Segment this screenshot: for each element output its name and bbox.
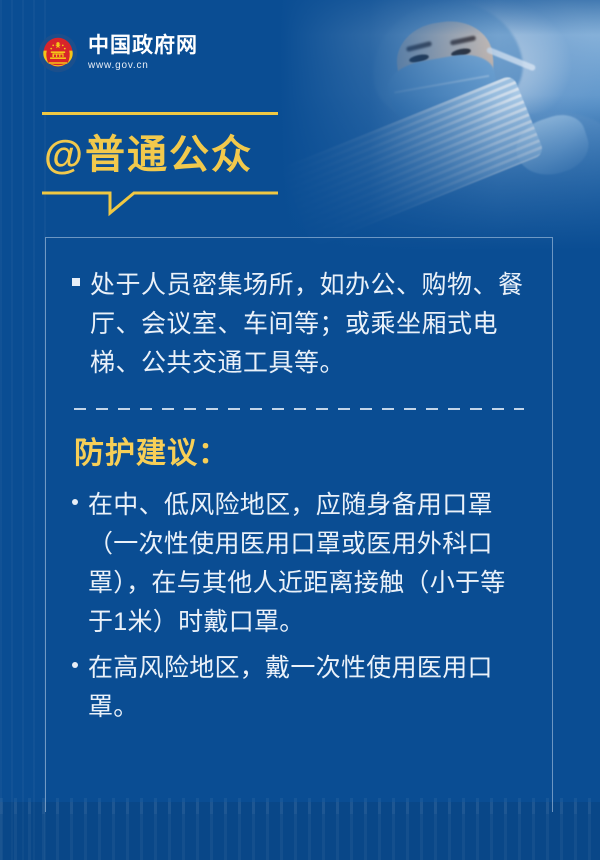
china-national-emblem-icon — [38, 33, 78, 73]
dashed-divider — [74, 408, 524, 410]
dot-bullet-icon — [72, 662, 78, 668]
page-title: @普通公众 — [44, 135, 278, 175]
recommendation-list: 在中、低风险地区，应随身备用口罩（一次性使用医用口罩或医用外科口罩），在与其他人… — [72, 486, 526, 727]
site-logo-text: 中国政府网 www.gov.cn — [88, 35, 198, 71]
left-stripe-texture — [0, 0, 46, 860]
section-title: 防护建议： — [74, 436, 526, 472]
content-card: 处于人员密集场所，如办公、购物、餐厅、会议室、车间等；或乘坐厢式电梯、公共交通工… — [45, 237, 553, 812]
scenario-item: 处于人员密集场所，如办公、购物、餐厅、会议室、车间等；或乘坐厢式电梯、公共交通工… — [72, 266, 526, 382]
site-url: www.gov.cn — [88, 61, 198, 71]
list-item: 在中、低风险地区，应随身备用口罩（一次性使用医用口罩或医用外科口罩），在与其他人… — [72, 486, 526, 641]
recommendation-text: 在中、低风险地区，应随身备用口罩（一次性使用医用口罩或医用外科口罩），在与其他人… — [88, 486, 526, 641]
photo-fade-overlay — [280, 0, 600, 250]
title-rule-bottom-with-tail — [42, 191, 278, 217]
list-item: 在高风险地区，戴一次性使用医用口罩。 — [72, 649, 526, 727]
poster-root: 中国政府网 www.gov.cn @普通公众 处于人员密集场所，如办公、购物、餐… — [0, 0, 600, 860]
site-name: 中国政府网 — [88, 35, 198, 57]
title-rule-top — [42, 112, 278, 115]
background-photo — [280, 0, 600, 250]
dot-bullet-icon — [72, 499, 78, 505]
title-block: @普通公众 — [42, 112, 278, 217]
site-logo[interactable]: 中国政府网 www.gov.cn — [38, 33, 198, 73]
recommendation-text: 在高风险地区，戴一次性使用医用口罩。 — [88, 649, 526, 727]
scenario-text: 处于人员密集场所，如办公、购物、餐厅、会议室、车间等；或乘坐厢式电梯、公共交通工… — [90, 266, 526, 382]
square-bullet-icon — [72, 278, 80, 286]
